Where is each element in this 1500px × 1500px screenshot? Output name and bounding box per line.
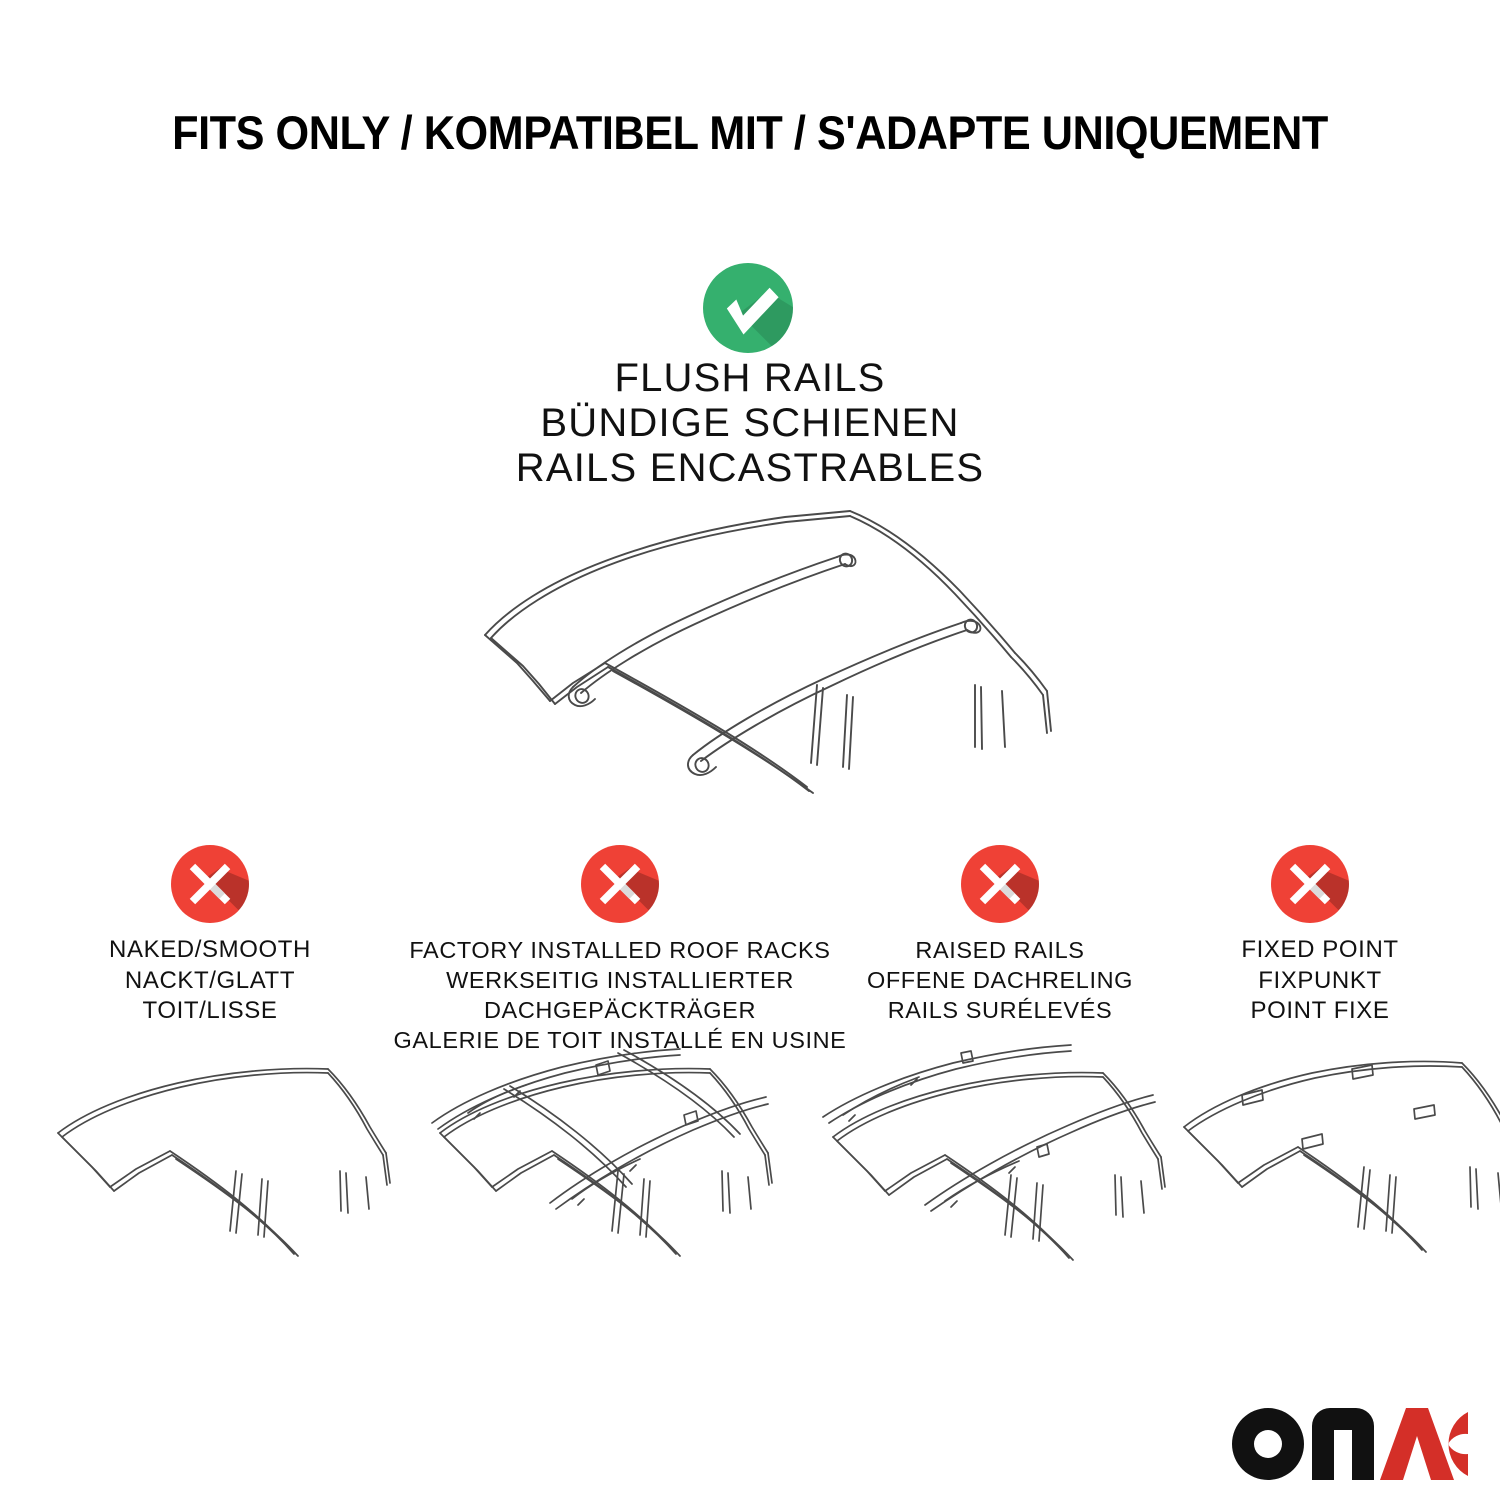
car-roof-raised-rails-illustration [815,1055,1175,1285]
option-label: NAKED/SMOOTH NACKT/GLATT TOIT/LISSE [20,935,400,1027]
car-roof-fixed-point-illustration [1170,1055,1500,1285]
car-roof-factory-rack-illustration [422,1055,782,1285]
option-label-line-de-2: DACHGEPÄCKTRÄGER [385,995,855,1025]
option-label-line-fr: TOIT/LISSE [20,996,400,1027]
option-label: FIXED POINT FIXPUNKT POINT FIXE [1130,935,1500,1027]
page-title: FITS ONLY / KOMPATIBEL MIT / S'ADAPTE UN… [60,108,1440,157]
check-circle-icon [703,263,793,353]
option-label: FACTORY INSTALLED ROOF RACKS WERKSEITIG … [385,935,855,1055]
x-circle-icon [961,845,1039,923]
x-circle-icon [581,845,659,923]
option-label-line-de: FIXPUNKT [1130,966,1500,997]
header: FITS ONLY / KOMPATIBEL MIT / S'ADAPTE UN… [0,108,1500,157]
compatible-label-line-en: FLUSH RAILS [0,356,1500,401]
omac-logo [1232,1408,1468,1480]
option-label-line-fr: POINT FIXE [1130,996,1500,1027]
x-circle-icon [171,845,249,923]
compatible-label-line-fr: RAILS ENCASTRABLES [0,446,1500,491]
x-circle-icon [1271,845,1349,923]
compatible-label-line-de: BÜNDIGE SCHIENEN [0,401,1500,446]
car-roof-naked-illustration [40,1055,400,1285]
option-label-line-en: FACTORY INSTALLED ROOF RACKS [385,935,855,965]
compatible-label: FLUSH RAILS BÜNDIGE SCHIENEN RAILS ENCAS… [0,356,1500,490]
option-label-line-de-1: WERKSEITIG INSTALLIERTER [385,965,855,995]
option-label-line-de: NACKT/GLATT [20,966,400,997]
option-label-line-en: FIXED POINT [1130,935,1500,966]
option-label-line-fr: GALERIE DE TOIT INSTALLÉ EN USINE [385,1025,855,1055]
option-label-line-en: NAKED/SMOOTH [20,935,400,966]
car-roof-with-flush-rails-illustration [455,495,1055,795]
